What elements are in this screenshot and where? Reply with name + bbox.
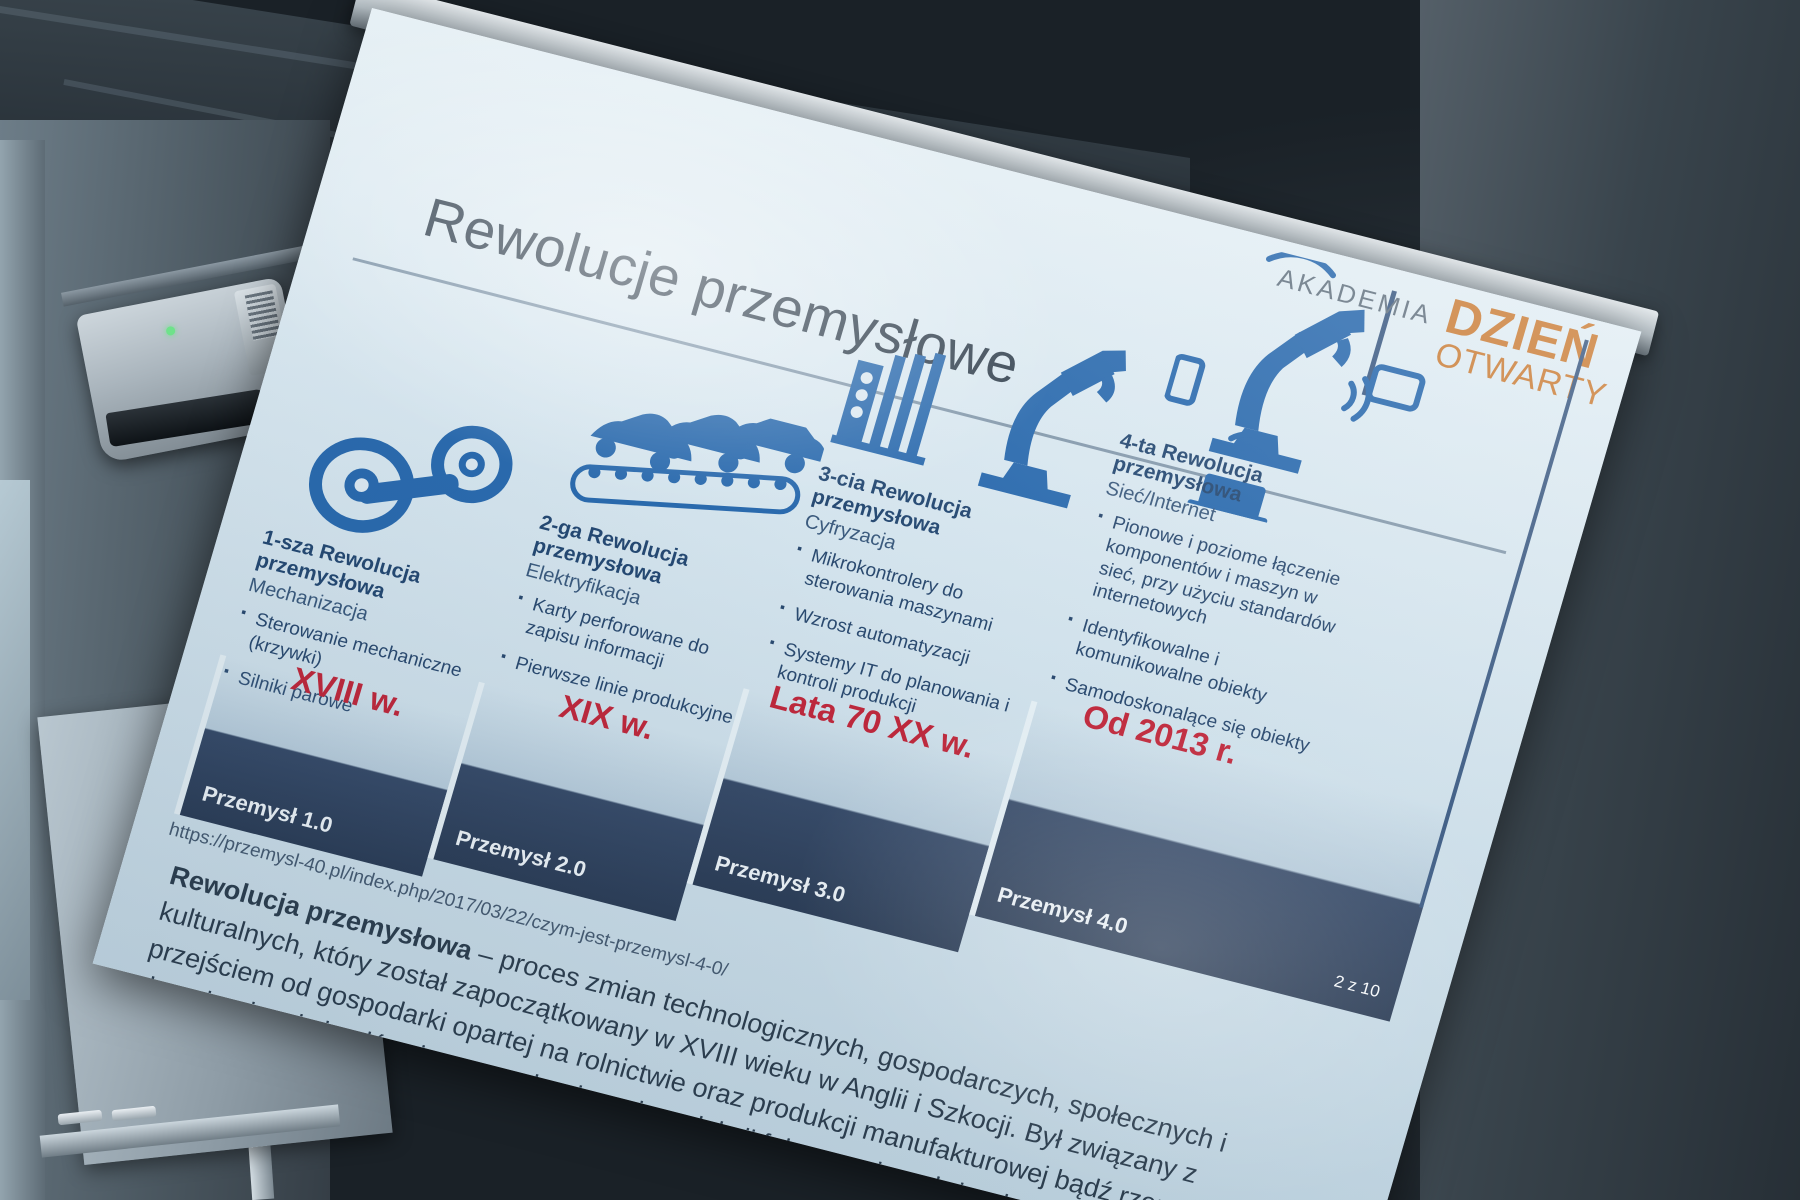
slide-frame-line: [1419, 340, 1589, 909]
projection-screen: AKADEMIA DZIEŃ OTWARTY Rewolucje przemys…: [0, 0, 1800, 1200]
paragraph-2-lead: Przemysł 4.0: [119, 1024, 286, 1093]
slide-content: AKADEMIA DZIEŃ OTWARTY Rewolucje przemys…: [93, 8, 1642, 1200]
slide-surface: AKADEMIA DZIEŃ OTWARTY Rewolucje przemys…: [93, 8, 1642, 1200]
classroom-photo: AKADEMIA DZIEŃ OTWARTY Rewolucje przemys…: [0, 0, 1800, 1200]
